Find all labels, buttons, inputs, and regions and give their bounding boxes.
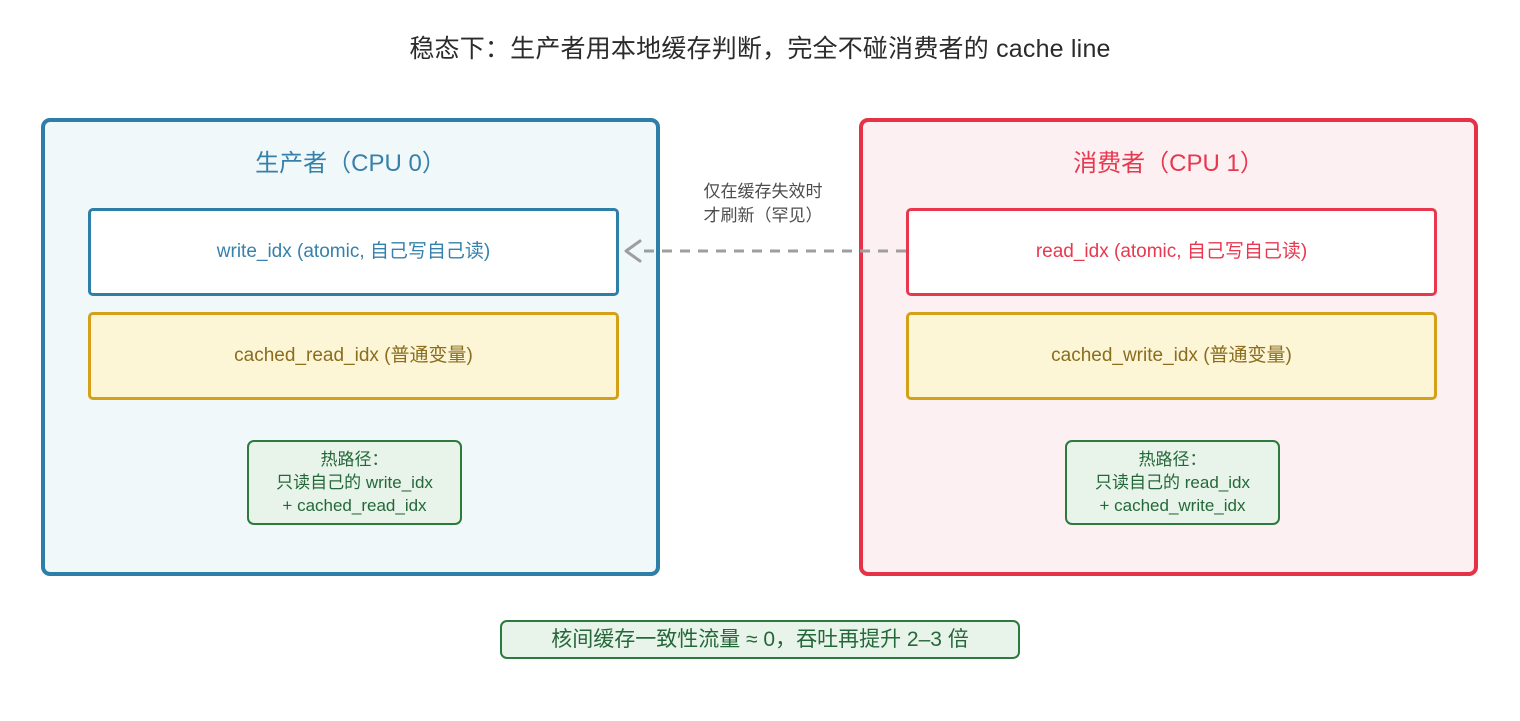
consumer-cached-card-label: cached_write_idx (普通变量) (1051, 344, 1292, 368)
producer-panel-heading: 生产者（CPU 0） (45, 149, 656, 179)
conclusion-banner: 核间缓存一致性流量 ≈ 0，吞吐再提升 2–3 倍 (500, 620, 1020, 659)
diagram-canvas: 稳态下：生产者用本地缓存判断，完全不碰消费者的 cache line 生产者（C… (0, 0, 1520, 721)
producer-cached-card: cached_read_idx (普通变量) (88, 312, 619, 400)
producer-hotpath-line-1: 热路径： (321, 448, 389, 471)
connector-arrow-svg (618, 180, 908, 290)
consumer-hotpath-line-2: 只读自己的 read_idx (1095, 471, 1250, 494)
producer-atomic-card: write_idx (atomic, 自己写自己读) (88, 208, 619, 296)
producer-cached-card-label: cached_read_idx (普通变量) (234, 344, 473, 368)
consumer-hotpath-line-1: 热路径： (1139, 448, 1207, 471)
producer-hotpath-line-2: 只读自己的 write_idx (276, 471, 433, 494)
consumer-hotpath-line-3: + cached_write_idx (1099, 494, 1245, 517)
diagram-title: 稳态下：生产者用本地缓存判断，完全不碰消费者的 cache line (0, 32, 1520, 66)
consumer-hotpath-card: 热路径： 只读自己的 read_idx + cached_write_idx (1065, 440, 1280, 525)
producer-atomic-card-label: write_idx (atomic, 自己写自己读) (217, 240, 490, 264)
consumer-cpu-panel: 消费者（CPU 1） read_idx (atomic, 自己写自己读) cac… (859, 118, 1478, 576)
consumer-panel-heading: 消费者（CPU 1） (863, 149, 1474, 179)
consumer-atomic-card: read_idx (atomic, 自己写自己读) (906, 208, 1437, 296)
conclusion-text: 核间缓存一致性流量 ≈ 0，吞吐再提升 2–3 倍 (551, 626, 969, 654)
arrow-left-icon (626, 241, 640, 261)
producer-cpu-panel: 生产者（CPU 0） write_idx (atomic, 自己写自己读) ca… (41, 118, 660, 576)
cache-refresh-connector: 仅在缓存失效时 才刷新（罕见） (618, 180, 908, 290)
consumer-cached-card: cached_write_idx (普通变量) (906, 312, 1437, 400)
producer-hotpath-card: 热路径： 只读自己的 write_idx + cached_read_idx (247, 440, 462, 525)
consumer-atomic-card-label: read_idx (atomic, 自己写自己读) (1036, 240, 1307, 264)
producer-hotpath-line-3: + cached_read_idx (282, 494, 426, 517)
